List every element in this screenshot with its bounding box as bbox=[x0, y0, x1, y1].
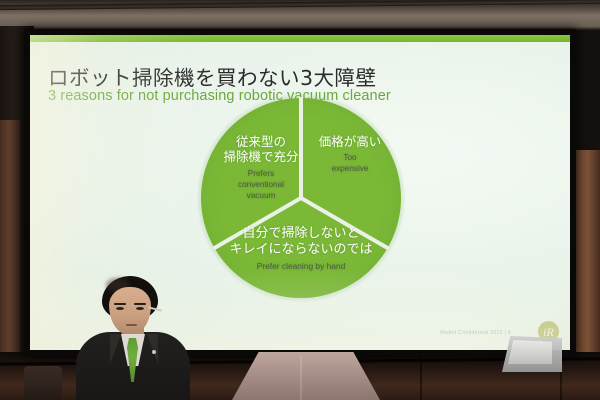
drape-fold bbox=[300, 356, 302, 400]
presenter-lapel-pin bbox=[152, 350, 156, 354]
presenter-eye-left bbox=[116, 307, 124, 310]
logo-letter: iR bbox=[543, 326, 554, 338]
presenter-eyebrow-right bbox=[134, 303, 146, 305]
slide-top-accent-bar bbox=[30, 35, 570, 42]
presenter bbox=[70, 276, 200, 400]
pie-slice-label-ja: 自分で掃除しないと キレイにならないのでは bbox=[207, 226, 395, 258]
page-title-japanese: ロボット掃除機を買わない3大障壁 bbox=[48, 61, 377, 91]
foreground-object bbox=[24, 366, 62, 400]
pie-slice-label-en: Too expensive bbox=[305, 152, 395, 174]
pie-slice-label-en: Prefers conventional vacuum bbox=[215, 168, 307, 201]
slide-footer-note: iRobot Confidential 2015 | 8 bbox=[440, 330, 511, 336]
left-wood-panel bbox=[0, 120, 20, 380]
pie-slice-label-conventional-vacuum: 従来型の 掃除機で充分 Prefers conventional vacuum bbox=[215, 134, 307, 201]
pie-slice-label-clean-by-hand: 自分で掃除しないと キレイにならないのでは Prefer cleaning by… bbox=[207, 226, 395, 272]
pie-slice-label-en: Prefer cleaning by hand bbox=[207, 261, 395, 272]
presenter-eye-right bbox=[136, 307, 144, 310]
presenter-face bbox=[109, 287, 151, 335]
presenter-mouth bbox=[126, 324, 137, 326]
pie-slice-label-ja: 従来型の 掃除機で充分 bbox=[215, 134, 307, 165]
pie-chart: 従来型の 掃除機で充分 Prefers conventional vacuum … bbox=[201, 98, 401, 298]
laptop-screen bbox=[508, 340, 552, 364]
presenter-eyebrow-left bbox=[114, 303, 126, 305]
wall-seam-vertical bbox=[420, 356, 422, 400]
photo-of-presentation-room: ロボット掃除機を買わない3大障壁 3 reasons for not purch… bbox=[0, 0, 600, 400]
pie-slice-label-too-expensive: 価格が高い Too expensive bbox=[305, 134, 395, 174]
pie-slice-label-ja: 価格が高い bbox=[305, 134, 395, 149]
